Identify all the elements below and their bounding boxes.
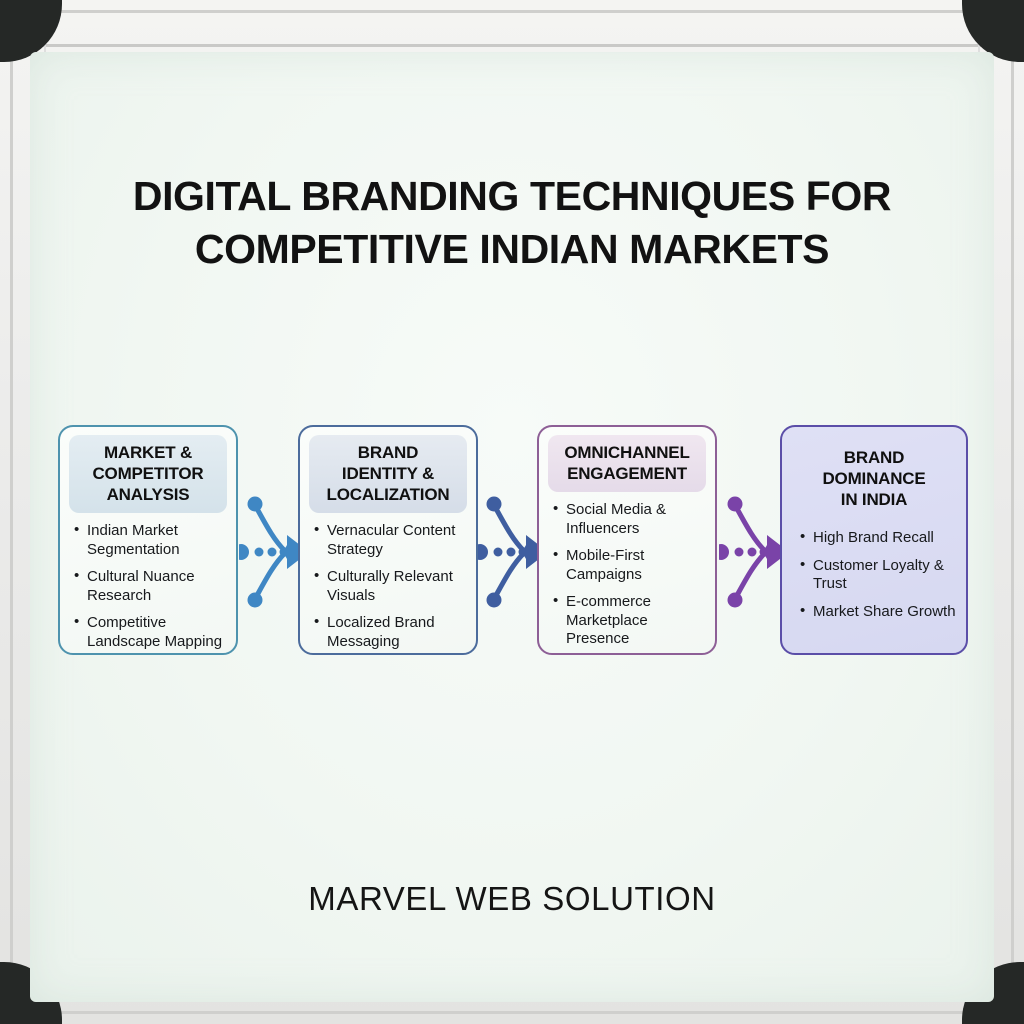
flow-node-brand-dominance-in-india[interactable]: BRAND DOMINANCE IN INDIA High Brand Reca… xyxy=(780,425,968,655)
process-flow-diagram: MARKET & COMPETITOR ANALYSIS Indian Mark… xyxy=(58,425,998,665)
list-item: E-commerce Marketplace Presence xyxy=(553,593,707,649)
flow-node-brand-identity-localization[interactable]: BRAND IDENTITY & LOCALIZATION Vernacular… xyxy=(298,425,478,655)
list-item: Indian Market Segmentation xyxy=(74,522,228,559)
list-item: Social Media & Influencers xyxy=(553,501,707,538)
flow-node-header: BRAND IDENTITY & LOCALIZATION xyxy=(309,435,467,513)
whiteboard-surface: DIGITAL BRANDING TECHNIQUES FOR COMPETIT… xyxy=(30,52,994,1002)
page-title: DIGITAL BRANDING TECHNIQUES FOR COMPETIT… xyxy=(30,170,994,276)
whiteboard-frame: DIGITAL BRANDING TECHNIQUES FOR COMPETIT… xyxy=(0,0,1024,1024)
list-item: Cultural Nuance Research xyxy=(74,568,228,605)
flow-node-heading-line: OMNICHANNEL xyxy=(552,442,702,463)
frame-rail-left xyxy=(10,24,13,1000)
frame-rail-top xyxy=(24,10,1000,13)
brand-name: MARVEL WEB SOLUTION xyxy=(30,880,994,918)
flow-node-header: OMNICHANNEL ENGAGEMENT xyxy=(548,435,706,492)
flow-node-heading-line: LOCALIZATION xyxy=(313,484,463,505)
flow-node-heading-line: COMPETITOR xyxy=(73,463,223,484)
list-item: Competitive Landscape Mapping xyxy=(74,614,228,651)
flow-node-bullet-list: Social Media & Influencers Mobile-First … xyxy=(539,501,715,649)
page-title-line-2: COMPETITIVE INDIAN MARKETS xyxy=(30,223,994,276)
flow-node-bullet-list: Indian Market Segmentation Cultural Nuan… xyxy=(60,522,236,651)
flow-node-header: MARKET & COMPETITOR ANALYSIS xyxy=(69,435,227,513)
flow-node-heading-line: DOMINANCE xyxy=(795,468,953,489)
flow-node-header: BRAND DOMINANCE IN INDIA xyxy=(791,435,957,518)
flow-node-heading-line: IN INDIA xyxy=(795,489,953,510)
flow-node-omnichannel-engagement[interactable]: OMNICHANNEL ENGAGEMENT Social Media & In… xyxy=(537,425,717,655)
frame-rail-top-inner xyxy=(24,44,1000,47)
connector-3-dotted-merge-arrow-icon xyxy=(719,487,789,617)
frame-rail-right xyxy=(1011,24,1014,1000)
list-item: Mobile-First Campaigns xyxy=(553,547,707,584)
flow-node-market-competitor-analysis[interactable]: MARKET & COMPETITOR ANALYSIS Indian Mark… xyxy=(58,425,238,655)
list-item: Localized Brand Messaging xyxy=(314,614,468,651)
flow-node-heading-line: MARKET & xyxy=(73,442,223,463)
list-item: Customer Loyalty & Trust xyxy=(800,557,958,594)
dotted-merge-arrow-icon xyxy=(719,487,789,617)
list-item: Culturally Relevant Visuals xyxy=(314,568,468,605)
flow-node-heading-line: BRAND xyxy=(795,447,953,468)
flow-node-heading-line: IDENTITY & xyxy=(313,463,463,484)
flow-node-heading-line: BRAND xyxy=(313,442,463,463)
list-item: Vernacular Content Strategy xyxy=(314,522,468,559)
list-item: High Brand Recall xyxy=(800,529,958,548)
footer: MARVEL WEB SOLUTION xyxy=(30,880,994,918)
list-item: Market Share Growth xyxy=(800,603,958,622)
frame-rail-bottom xyxy=(24,1011,1000,1014)
page-title-line-1: DIGITAL BRANDING TECHNIQUES FOR xyxy=(30,170,994,223)
flow-node-bullet-list: High Brand Recall Customer Loyalty & Tru… xyxy=(782,529,966,621)
flow-node-heading-line: ANALYSIS xyxy=(73,484,223,505)
flow-node-bullet-list: Vernacular Content Strategy Culturally R… xyxy=(300,522,476,651)
flow-node-heading-line: ENGAGEMENT xyxy=(552,463,702,484)
